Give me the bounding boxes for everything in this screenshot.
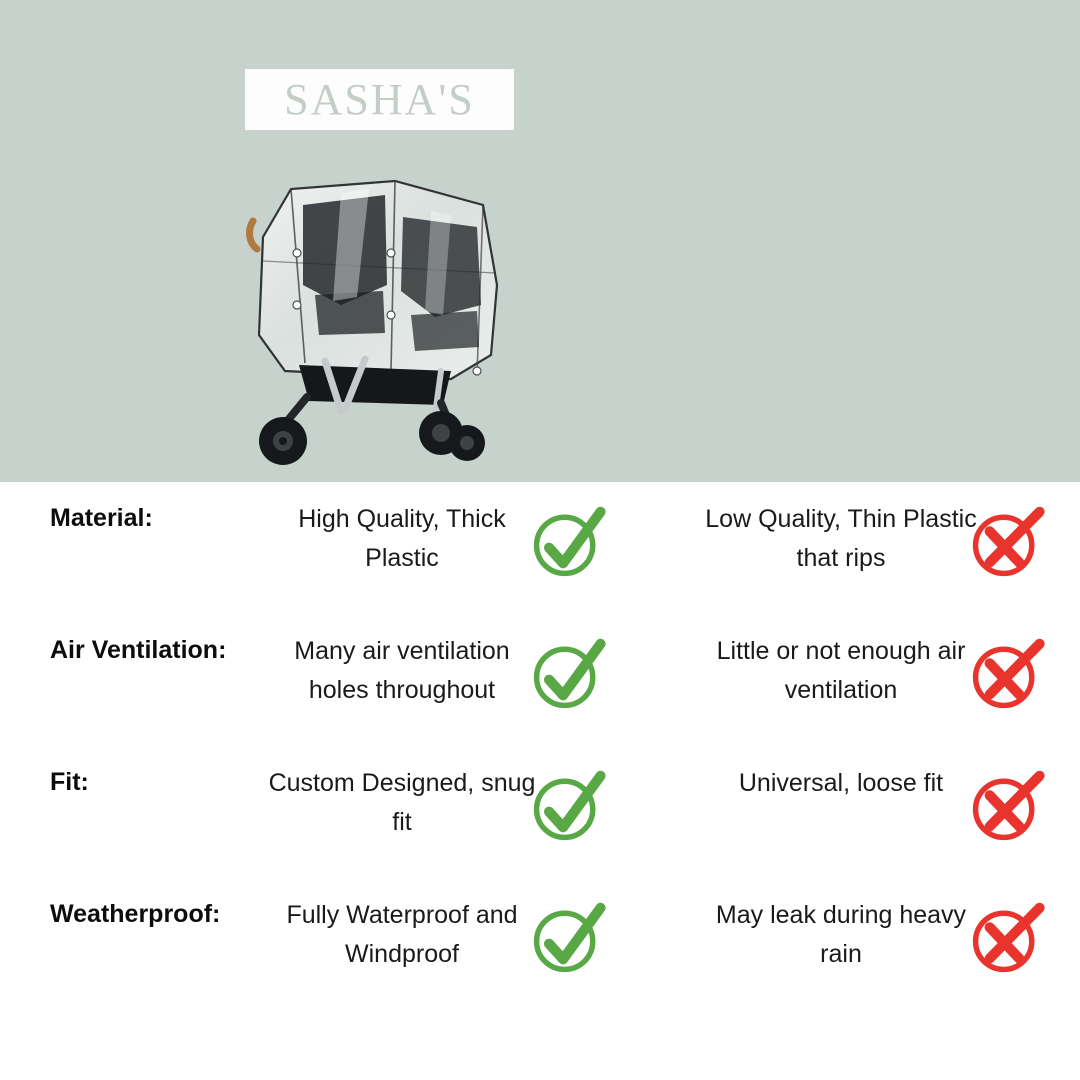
- check-circle-icon: [528, 636, 606, 714]
- table-row: Air Ventilation: Many air ventilation ho…: [0, 614, 1080, 746]
- competitor-cell-text: May leak during heavy rain: [700, 896, 982, 974]
- brand-cell-text: High Quality, Thick Plastic: [262, 500, 542, 578]
- check-circle-icon: [528, 504, 606, 582]
- row-label: Fit:: [50, 766, 280, 800]
- competitor-column: Others: [640, 0, 1080, 482]
- x-circle-icon: [967, 900, 1045, 978]
- x-circle-icon: [967, 768, 1045, 846]
- check-circle-icon: [528, 768, 606, 846]
- row-label: Material:: [50, 502, 280, 536]
- row-label: Air Ventilation:: [50, 634, 280, 668]
- brand-cell-text: Fully Waterproof and Windproof: [262, 896, 542, 974]
- competitor-cell-text: Universal, loose fit: [700, 764, 982, 803]
- brand-cell-text: Custom Designed, snug fit: [262, 764, 542, 842]
- x-circle-icon: [967, 636, 1045, 714]
- header-band: SASHA'S: [0, 0, 1080, 482]
- x-circle-icon: [967, 504, 1045, 582]
- table-row: Fit: Custom Designed, snug fit Universal…: [0, 746, 1080, 878]
- comparison-infographic: SASHA'S: [0, 0, 1080, 1080]
- brand-column: SASHA'S: [0, 0, 640, 482]
- row-label: Weatherproof:: [50, 898, 280, 932]
- brand-cell-text: Many air ventilation holes throughout: [262, 632, 542, 710]
- table-row: Weatherproof: Fully Waterproof and Windp…: [0, 878, 1080, 1010]
- competitor-cell-text: Low Quality, Thin Plastic that rips: [700, 500, 982, 578]
- brand-logo-box: SASHA'S: [245, 69, 514, 130]
- brand-logo-text: SASHA'S: [284, 78, 475, 122]
- table-row: Material: High Quality, Thick Plastic Lo…: [0, 482, 1080, 614]
- check-circle-icon: [528, 900, 606, 978]
- comparison-table: Material: High Quality, Thick Plastic Lo…: [0, 482, 1080, 1010]
- brand-product-image: [245, 165, 515, 465]
- competitor-cell-text: Little or not enough air ventilation: [700, 632, 982, 710]
